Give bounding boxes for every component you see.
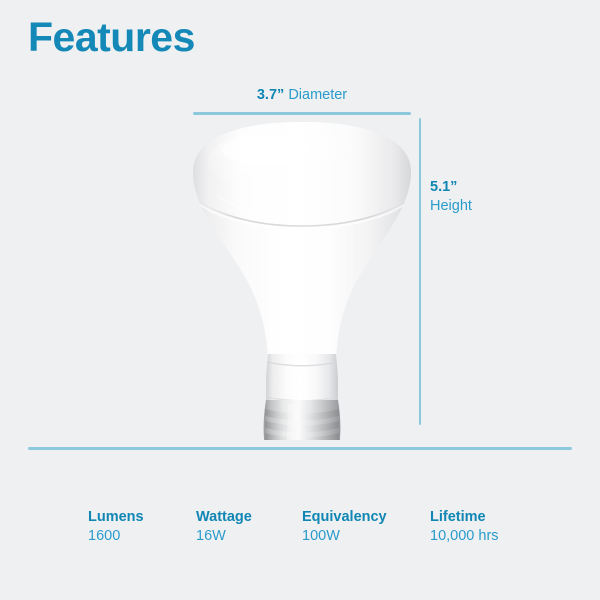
spec-lifetime-value: 10,000 hrs bbox=[430, 527, 499, 547]
spec-lumens: Lumens 1600 bbox=[88, 508, 144, 546]
light-bulb-illustration bbox=[170, 110, 434, 440]
features-infographic-page: Features 3.7” Diameter 5.1” Height bbox=[0, 0, 600, 600]
spec-wattage-label: Wattage bbox=[196, 508, 252, 527]
spec-equivalency: Equivalency 100W bbox=[302, 508, 387, 546]
spec-lumens-value: 1600 bbox=[88, 527, 144, 547]
spec-lifetime-label: Lifetime bbox=[430, 508, 499, 527]
spec-wattage-value: 16W bbox=[196, 527, 252, 547]
height-dimension-label: 5.1” Height bbox=[430, 178, 472, 215]
height-label-text: Height bbox=[430, 197, 472, 216]
spec-equivalency-value: 100W bbox=[302, 527, 387, 547]
spec-wattage: Wattage 16W bbox=[196, 508, 252, 546]
diameter-dimension-label: 3.7” Diameter bbox=[0, 86, 600, 105]
page-title: Features bbox=[28, 16, 195, 59]
spec-lifetime: Lifetime 10,000 hrs bbox=[430, 508, 499, 546]
height-value: 5.1” bbox=[430, 179, 457, 195]
diameter-label-text: Diameter bbox=[288, 87, 347, 103]
section-divider bbox=[28, 447, 572, 450]
diameter-value: 3.7” bbox=[257, 87, 284, 103]
spec-lumens-label: Lumens bbox=[88, 508, 144, 527]
specs-row: Lumens 1600 Wattage 16W Equivalency 100W… bbox=[0, 508, 600, 568]
spec-equivalency-label: Equivalency bbox=[302, 508, 387, 527]
